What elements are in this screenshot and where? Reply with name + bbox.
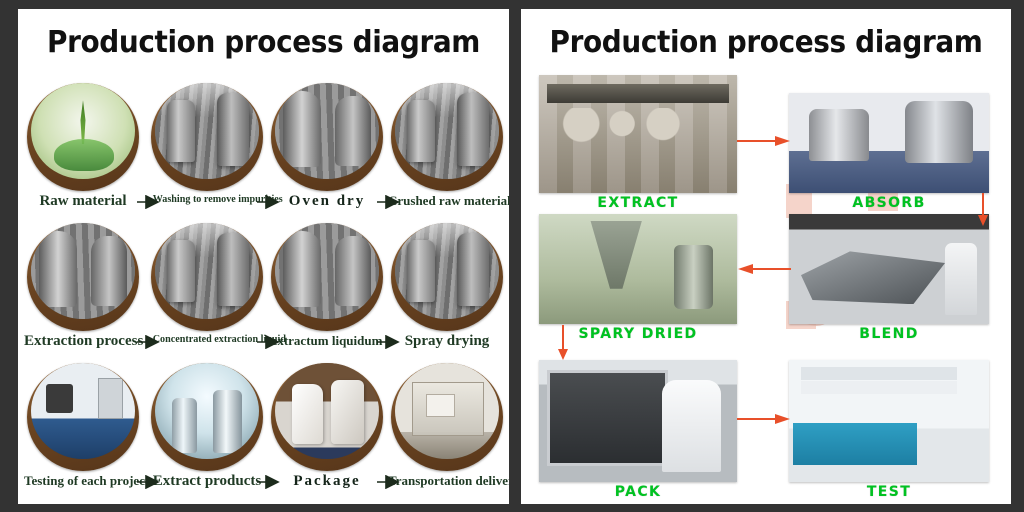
step-label: Raw material [24, 194, 142, 210]
triangle-right-arrow-icon [256, 475, 280, 489]
thumbnail-image [155, 363, 259, 459]
process-step[interactable]: Package [268, 363, 386, 490]
process-step[interactable]: Concentrated extraction liquid [148, 223, 266, 346]
step-label: Transportation delivery [388, 474, 506, 488]
process-step[interactable]: Raw material [24, 83, 142, 210]
process-step-grid: Raw material Washing to remove impuritie… [18, 83, 509, 503]
triangle-right-arrow-icon [256, 335, 280, 349]
thumbnail-image [275, 83, 379, 179]
triangle-right-arrow-icon [136, 335, 160, 349]
process-step[interactable]: Transportation delivery [388, 363, 506, 488]
arrow-blend-to-spary [737, 263, 791, 275]
screenshot-root: Production process diagram Raw material [0, 0, 1024, 512]
arrow-extract-to-absorb [737, 135, 791, 147]
thumbnail-image [155, 223, 259, 319]
thumbnail-image [31, 223, 135, 319]
step-thumbnail [27, 363, 139, 471]
step-label: Spray drying [388, 334, 506, 350]
photo-caption: BLEND [789, 326, 989, 342]
step-thumbnail [151, 363, 263, 471]
process-step[interactable]: Washing to remove impurities [148, 83, 266, 206]
step-thumbnail [151, 223, 263, 331]
left-panel: Production process diagram Raw material [18, 9, 509, 504]
step-thumbnail [271, 223, 383, 331]
thumbnail-image [31, 363, 135, 459]
thumbnail-image [155, 83, 259, 179]
thumbnail-image [275, 223, 379, 319]
photo-caption: EXTRACT [539, 195, 737, 211]
process-step[interactable]: Extract products [148, 363, 266, 490]
process-row: Testing of each project Extract products… [18, 363, 509, 503]
step-thumbnail [27, 83, 139, 191]
step-thumbnail [391, 83, 503, 191]
triangle-right-arrow-icon [136, 195, 160, 209]
triangle-right-arrow-icon [256, 195, 280, 209]
step-thumbnail [151, 83, 263, 191]
step-label: Concentrated extraction liquid [153, 334, 262, 346]
photo-image [539, 214, 737, 324]
photo-step[interactable]: TEST [789, 360, 989, 500]
step-label: Extract products [148, 474, 266, 490]
process-row: Extraction process Concentrated extracti… [18, 223, 509, 363]
photo-step[interactable]: PACK [539, 360, 737, 500]
step-thumbnail [271, 363, 383, 471]
photo-caption: TEST [789, 484, 989, 500]
triangle-right-arrow-icon [376, 195, 400, 209]
photo-caption: ABSORB [789, 195, 989, 211]
photo-image [539, 75, 737, 193]
thumbnail-image [395, 363, 499, 459]
arrow-absorb-to-blend [977, 193, 989, 227]
step-thumbnail [391, 363, 503, 471]
arrow-spary-to-pack [557, 325, 569, 361]
step-label: extractum liquidum [268, 334, 386, 348]
photo-step[interactable]: EXTRACT [539, 75, 737, 211]
process-step[interactable]: extractum liquidum [268, 223, 386, 348]
photo-image [789, 360, 989, 482]
step-label: Crushed raw materials [388, 194, 506, 208]
left-panel-title: Production process diagram [35, 25, 492, 60]
process-step[interactable]: Testing of each project [24, 363, 142, 488]
process-step[interactable]: Extraction process [24, 223, 142, 350]
right-panel: Production process diagram EXTRACT ABSOR… [521, 9, 1011, 504]
thumbnail-image [31, 83, 135, 179]
step-thumbnail [271, 83, 383, 191]
step-thumbnail [391, 223, 503, 331]
photo-image [789, 93, 989, 193]
photo-step[interactable]: SPARY DRIED [539, 214, 737, 342]
photo-step[interactable]: ABSORB [789, 93, 989, 211]
process-row: Raw material Washing to remove impuritie… [18, 83, 509, 223]
triangle-right-arrow-icon [136, 475, 160, 489]
step-label: Extraction process [24, 334, 142, 350]
step-label: Testing of each project [24, 474, 142, 488]
photo-image [789, 214, 989, 324]
right-panel-title: Production process diagram [538, 25, 994, 60]
thumbnail-image [275, 363, 379, 459]
thumbnail-image [395, 223, 499, 319]
process-step[interactable]: Spray drying [388, 223, 506, 350]
triangle-right-arrow-icon [376, 335, 400, 349]
photo-caption: PACK [539, 484, 737, 500]
step-label: Washing to remove impurities [153, 194, 262, 206]
process-step[interactable]: Crushed raw materials [388, 83, 506, 208]
step-thumbnail [27, 223, 139, 331]
step-label: Oven dry [268, 194, 386, 210]
thumbnail-image [395, 83, 499, 179]
photo-image [539, 360, 737, 482]
arrow-pack-to-test [737, 413, 791, 425]
step-label: Package [268, 474, 386, 490]
triangle-right-arrow-icon [376, 475, 400, 489]
photo-flow-grid: EXTRACT ABSORB SPARY DRIED BLEND PACK [521, 75, 1011, 495]
photo-step[interactable]: BLEND [789, 214, 989, 342]
process-step[interactable]: Oven dry [268, 83, 386, 210]
